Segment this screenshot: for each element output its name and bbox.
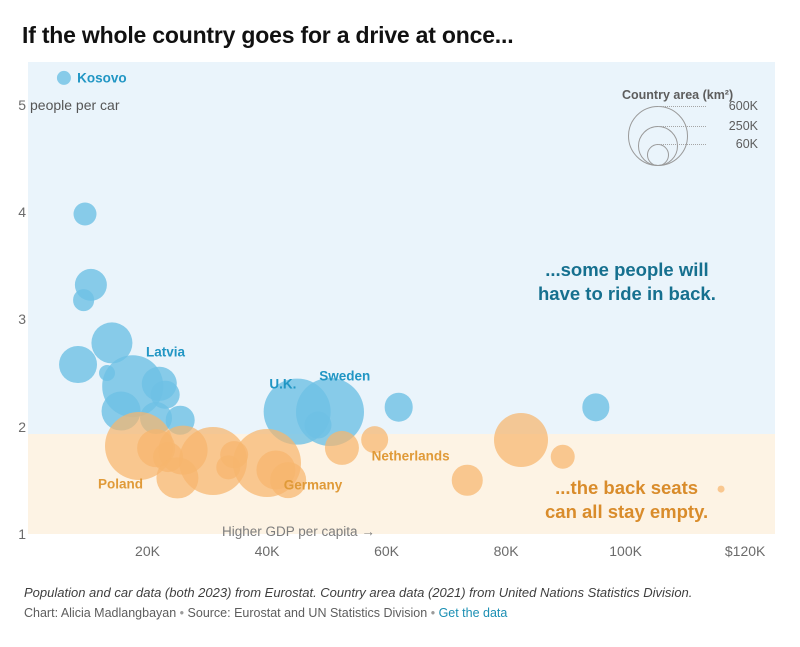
bubble-point: [73, 289, 95, 311]
y-axis-tick-1: 1: [0, 526, 26, 542]
y-axis-unit-label: people per car: [30, 97, 120, 113]
legend-label-60K: 60K: [710, 137, 758, 151]
annotation-upper: ...some people will have to ride in back…: [538, 258, 716, 305]
annotation-lower: ...the back seats can all stay empty.: [545, 476, 708, 523]
point-label-poland: Poland: [98, 477, 143, 492]
get-the-data-link[interactable]: Get the data: [439, 606, 508, 620]
x-axis-note: Higher GDP per capita →: [222, 524, 375, 539]
point-label-latvia: Latvia: [146, 344, 185, 359]
x-axis-tick-20K: 20K: [135, 543, 160, 559]
bubble-point: [325, 431, 359, 465]
legend-leader-600K: [658, 106, 706, 107]
bubble-point: [59, 346, 97, 384]
point-label-kosovo: Kosovo: [77, 71, 127, 86]
bubble-point: [304, 411, 331, 438]
bubble-point: [718, 486, 725, 493]
y-axis-tick-4: 4: [0, 204, 26, 220]
footer-credit-source: Source: Eurostat and UN Statistics Divis…: [188, 606, 428, 620]
y-axis-tick-3: 3: [0, 311, 26, 327]
x-axis-tick-80K: 80K: [494, 543, 519, 559]
footer-separator-2: •: [431, 606, 439, 620]
legend-leader-250K: [658, 126, 706, 127]
x-axis-tick-100K: 100K: [609, 543, 642, 559]
legend-leader-60K: [658, 144, 706, 145]
footer-credit: Chart: Alicia Madlangbayan • Source: Eur…: [24, 606, 784, 620]
bubble-point: [384, 393, 413, 422]
bubble-point: [551, 444, 576, 469]
footer-source-note: Population and car data (both 2023) from…: [24, 585, 784, 600]
x-axis-tick-60K: 60K: [374, 543, 399, 559]
chart-title: If the whole country goes for a drive at…: [22, 22, 513, 49]
point-label-germany: Germany: [284, 478, 343, 493]
bubble-point: [73, 203, 96, 226]
bubble-point: [494, 413, 548, 467]
legend-label-250K: 250K: [710, 119, 758, 133]
x-axis-tick-40K: 40K: [255, 543, 280, 559]
footer-credit-author: Chart: Alicia Madlangbayan: [24, 606, 176, 620]
bubble-chart: If the whole country goes for a drive at…: [0, 0, 800, 647]
x-axis-tick-120K: $120K: [725, 543, 765, 559]
size-legend: Country area (km²) 600K250K60K: [610, 88, 770, 172]
legend-circle-60K: [647, 144, 669, 166]
footer-separator-1: •: [180, 606, 188, 620]
y-axis-tick-2: 2: [0, 419, 26, 435]
point-label-uk: U.K.: [269, 376, 296, 391]
footer: Population and car data (both 2023) from…: [24, 585, 784, 620]
legend-label-600K: 600K: [710, 99, 758, 113]
point-label-sweden: Sweden: [319, 368, 370, 383]
y-axis-tick-5: 5: [0, 97, 26, 113]
point-label-netherlands: Netherlands: [372, 448, 450, 463]
